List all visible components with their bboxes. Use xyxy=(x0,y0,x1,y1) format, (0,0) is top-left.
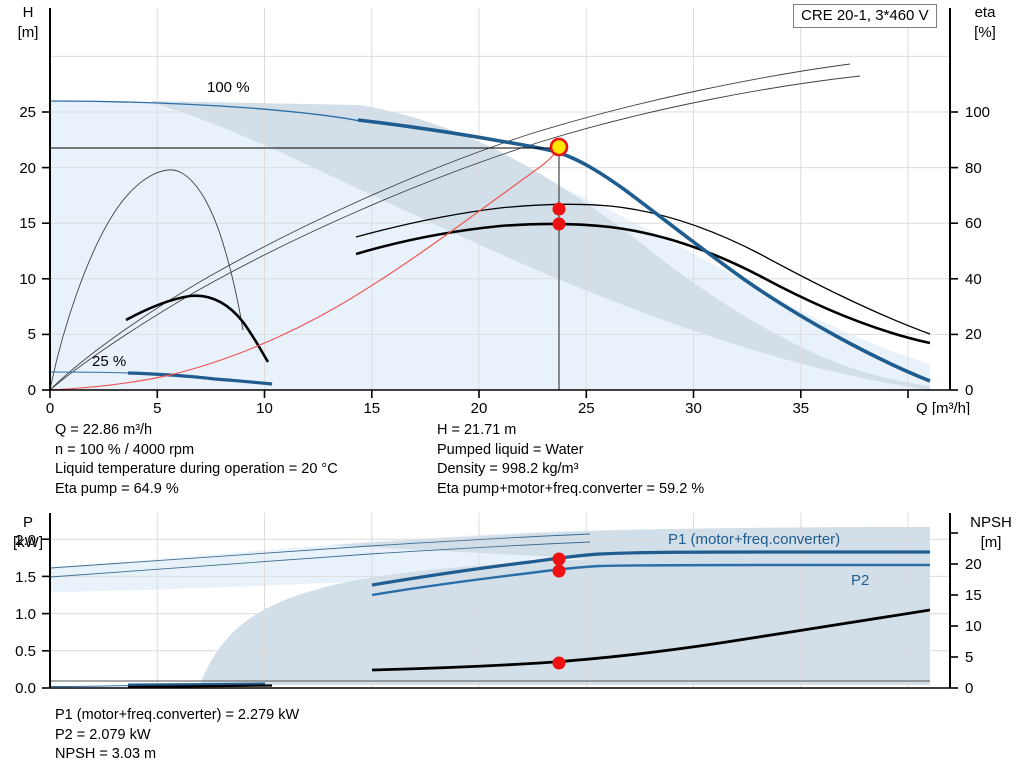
eta-pump-marker xyxy=(553,218,566,231)
eta-tick-60: 60 xyxy=(965,215,982,232)
npsh-tick-15: 15 xyxy=(965,587,982,604)
p-tick-15: 1.5 xyxy=(15,569,36,586)
eta-tick-80: 80 xyxy=(965,160,982,177)
x-tick-10: 10 xyxy=(256,400,273,415)
info-eta-total: Eta pump+motor+freq.converter = 59.2 % xyxy=(437,480,704,500)
y-axis-title-h: H xyxy=(23,4,34,21)
y-axis-unit-p: [kW] xyxy=(13,534,43,551)
y-axis-unit-h: [m] xyxy=(18,24,39,41)
x-tick-15: 15 xyxy=(363,400,380,415)
y-right-ticks-bottom: 0 5 10 15 20 xyxy=(950,533,982,697)
y-tick-top-10: 10 xyxy=(19,271,36,288)
y-right-ticks-top: 0 20 40 60 80 100 xyxy=(950,104,990,399)
info-npsh: NPSH = 3.03 m xyxy=(55,745,299,765)
x-tick-35: 35 xyxy=(792,400,809,415)
info-p1: P1 (motor+freq.converter) = 2.279 kW xyxy=(55,706,299,726)
p1-duty-marker xyxy=(553,553,566,566)
duty-info-right: H = 21.71 m Pumped liquid = Water Densit… xyxy=(437,421,704,499)
y-axis-title-eta: eta xyxy=(975,4,997,21)
y-tick-top-0: 0 xyxy=(28,382,36,399)
info-eta-pump: Eta pump = 64.9 % xyxy=(55,480,338,500)
x-tick-20: 20 xyxy=(471,400,488,415)
p-tick-05: 0.5 xyxy=(15,643,36,660)
pump-curve-page: 0 5 10 15 20 25 0 20 40 60 80 100 xyxy=(0,0,1024,781)
power-npsh-chart: 0.0 0.5 1.0 1.5 2.0 0 5 10 15 20 P [kW] … xyxy=(0,505,1024,705)
info-p2: P2 = 2.079 kW xyxy=(55,726,299,746)
info-head: H = 21.71 m xyxy=(437,421,704,441)
head-duty-marker xyxy=(551,139,567,155)
y-tick-top-25: 25 xyxy=(19,104,36,121)
y-tick-top-5: 5 xyxy=(28,326,36,343)
x-tick-0: 0 xyxy=(46,400,54,415)
npsh-tick-10: 10 xyxy=(965,618,982,635)
y-axis-unit-npsh: [m] xyxy=(981,534,1002,551)
y-axis-unit-eta: [%] xyxy=(974,24,996,41)
p-tick-10: 1.0 xyxy=(15,606,36,623)
chart-title-text: CRE 20-1, 3*460 V xyxy=(801,7,929,24)
head-efficiency-chart: 0 5 10 15 20 25 0 20 40 60 80 100 xyxy=(0,0,1024,415)
info-flow: Q = 22.86 m³/h xyxy=(55,421,338,441)
duty-info-left: Q = 22.86 m³/h n = 100 % / 4000 rpm Liqu… xyxy=(55,421,338,499)
npsh-tick-5: 5 xyxy=(965,649,973,666)
p2-series-label: P2 xyxy=(851,572,869,589)
p-25-curve-black xyxy=(128,686,272,688)
speed-label-25: 25 % xyxy=(92,353,126,370)
y-axis-title-p: P xyxy=(23,514,33,531)
p2-duty-marker xyxy=(553,565,566,578)
y-left-ticks-bottom: 0.0 0.5 1.0 1.5 2.0 xyxy=(15,532,50,697)
p-tick-00: 0.0 xyxy=(15,680,36,697)
y-axis-title-npsh: NPSH xyxy=(970,514,1012,531)
p1-series-label: P1 (motor+freq.converter) xyxy=(668,531,840,548)
y-tick-top-15: 15 xyxy=(19,215,36,232)
npsh-duty-marker xyxy=(553,657,566,670)
y-left-ticks-top: 0 5 10 15 20 25 xyxy=(19,104,50,399)
x-tick-5: 5 xyxy=(153,400,161,415)
x-axis-title-q: Q [m³/h] xyxy=(916,400,970,415)
speed-label-100: 100 % xyxy=(207,79,250,96)
power-info: P1 (motor+freq.converter) = 2.279 kW P2 … xyxy=(55,706,299,765)
eta-tick-0: 0 xyxy=(965,382,973,399)
eta-tick-40: 40 xyxy=(965,271,982,288)
info-density: Density = 998.2 kg/m³ xyxy=(437,460,704,480)
eta-tick-20: 20 xyxy=(965,326,982,343)
chart-title-box: CRE 20-1, 3*460 V xyxy=(793,4,937,28)
info-speed: n = 100 % / 4000 rpm xyxy=(55,441,338,461)
npsh-tick-20: 20 xyxy=(965,556,982,573)
info-temperature: Liquid temperature during operation = 20… xyxy=(55,460,338,480)
npsh-tick-0: 0 xyxy=(965,680,973,697)
info-liquid: Pumped liquid = Water xyxy=(437,441,704,461)
eta-tick-100: 100 xyxy=(965,104,990,121)
x-tick-30: 30 xyxy=(685,400,702,415)
y-tick-top-20: 20 xyxy=(19,160,36,177)
x-tick-25: 25 xyxy=(578,400,595,415)
eta-total-marker xyxy=(553,203,566,216)
x-ticks-top: 0 5 10 15 20 25 30 35 xyxy=(46,390,908,415)
